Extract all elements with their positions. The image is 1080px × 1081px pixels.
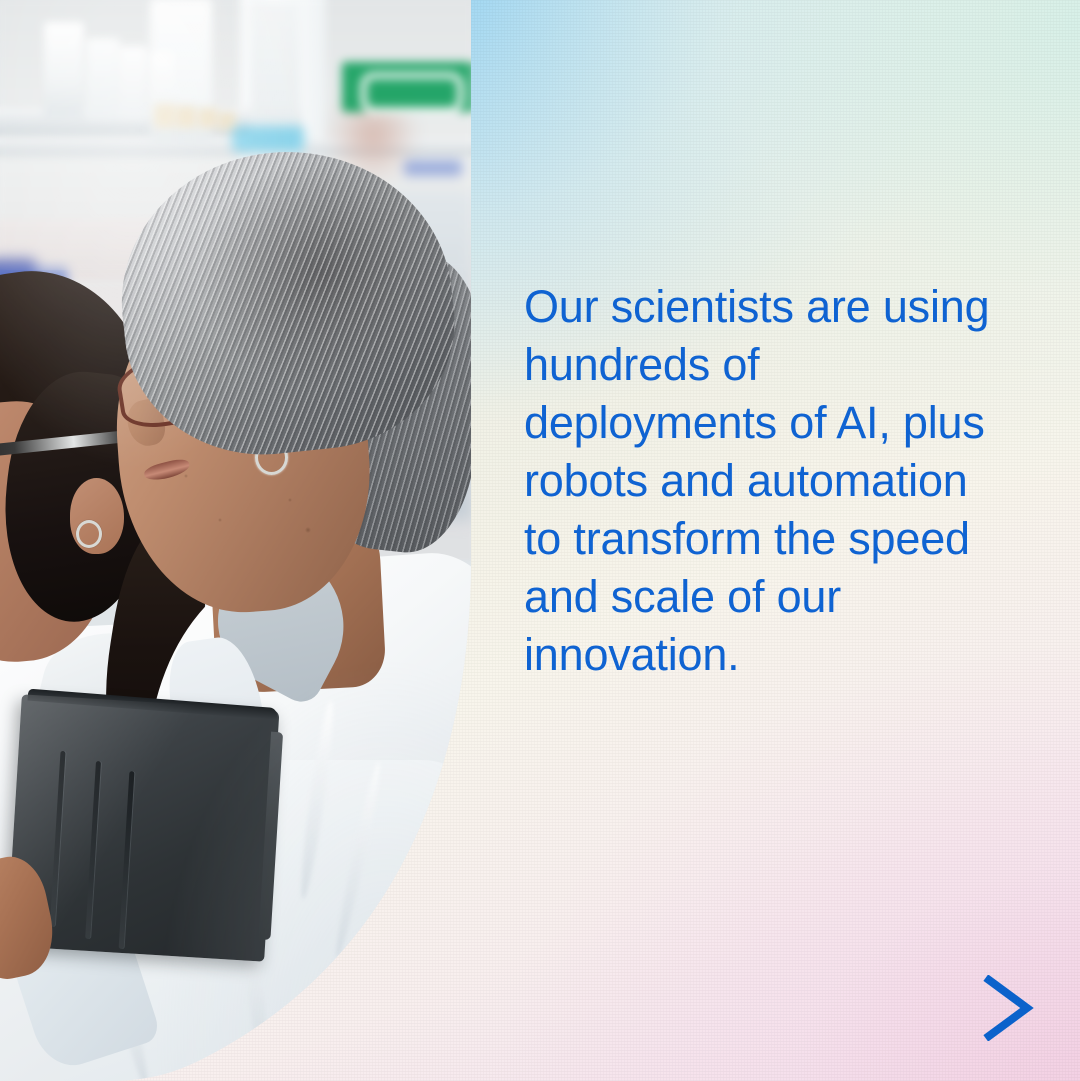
lab-blue-label	[404, 160, 462, 176]
quote-text: Our scientists are using hundreds of dep…	[524, 278, 994, 684]
lab-bottle	[86, 38, 120, 120]
lab-teal-object	[232, 126, 304, 152]
scientist-back-earring	[76, 520, 102, 548]
slide-canvas: Our scientists are using hundreds of dep…	[0, 0, 1080, 1081]
lab-bottle	[44, 22, 84, 118]
lab-vial	[198, 108, 218, 128]
chevron-right-icon	[980, 975, 1042, 1041]
next-arrow-button[interactable]	[980, 975, 1042, 1041]
quote-block: Our scientists are using hundreds of dep…	[524, 278, 994, 684]
exit-sign-icon	[342, 62, 471, 112]
lab-bottle	[118, 46, 148, 120]
lab-vial	[154, 104, 176, 128]
lab-vial	[176, 106, 196, 128]
